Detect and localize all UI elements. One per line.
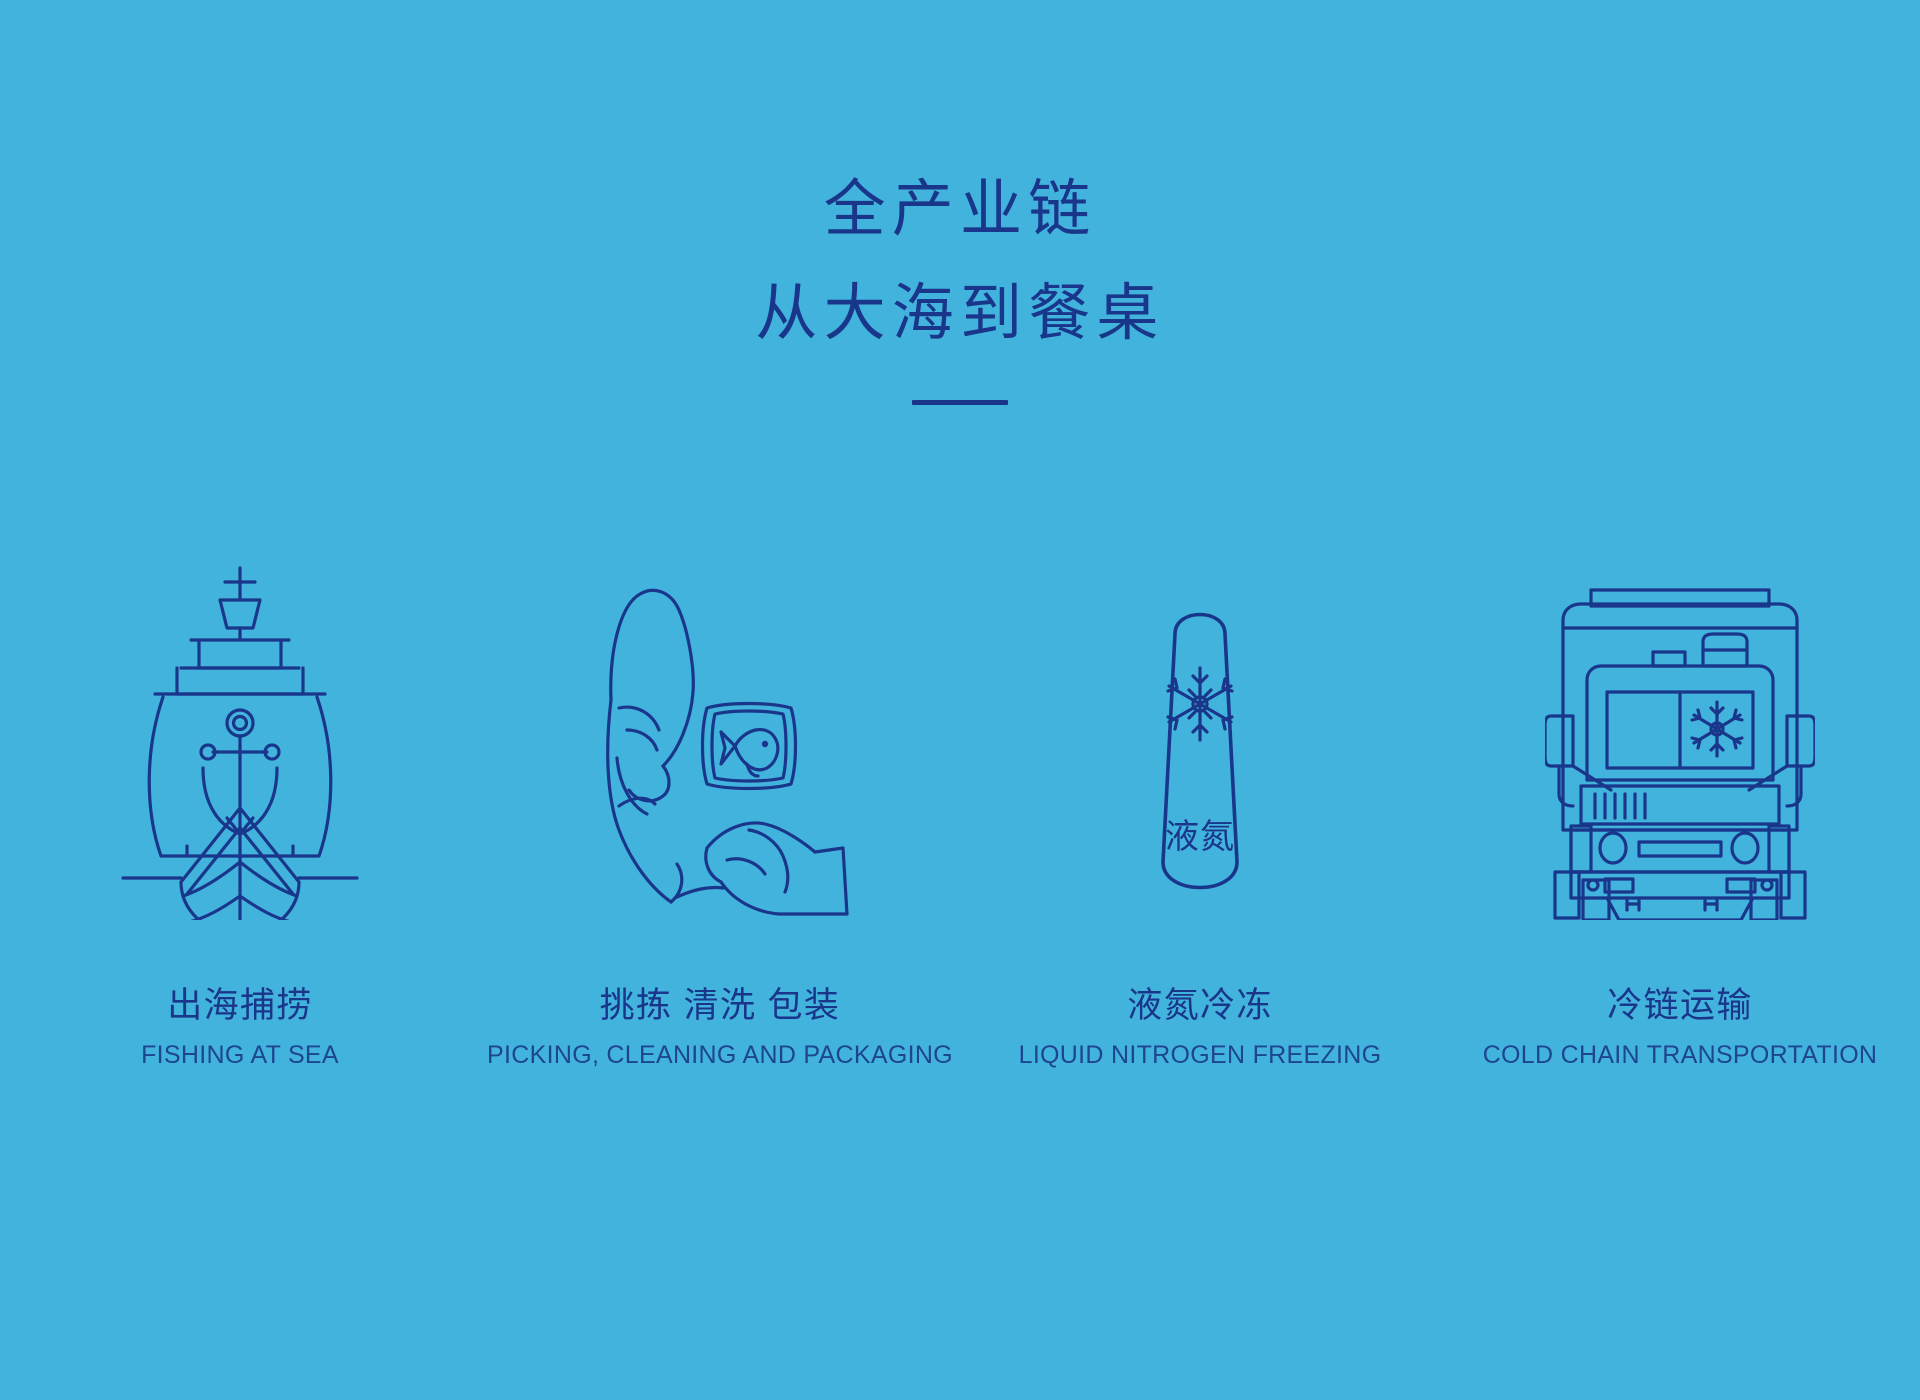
step-label-cn: 出海捕捞 (141, 984, 339, 1028)
page-header: 全产业链 从大海到餐桌 (0, 170, 1920, 405)
snowflake-icon (1692, 702, 1742, 756)
picking-cleaning-packaging-labels: 挑拣 清洗 包装 PICKING, CLEANING AND PACKAGING (487, 984, 953, 1070)
step-label-cn: 挑拣 清洗 包装 (487, 984, 953, 1028)
page-root: 全产业链 从大海到餐桌 (0, 0, 1920, 1400)
tank-label-text: 液氮 (1165, 818, 1235, 856)
hands-with-packaged-fish-icon (575, 580, 865, 920)
snowflake-icon (1168, 668, 1232, 740)
step-label-en: LIQUID NITROGEN FREEZING (1019, 1041, 1382, 1070)
step-label-en: PICKING, CLEANING AND PACKAGING (487, 1041, 953, 1070)
process-step-fishing-at-sea[interactable]: 出海捕捞 FISHING AT SEA (0, 520, 480, 1070)
title-divider (912, 400, 1008, 405)
fishing-boat-with-anchor-icon (115, 560, 365, 920)
process-steps-row: 出海捕捞 FISHING AT SEA (0, 520, 1920, 1070)
fishing-at-sea-labels: 出海捕捞 FISHING AT SEA (141, 984, 339, 1070)
process-step-picking-cleaning-packaging[interactable]: 挑拣 清洗 包装 PICKING, CLEANING AND PACKAGING (480, 520, 960, 1070)
step-label-cn: 液氮冷冻 (1019, 984, 1382, 1028)
process-step-cold-chain-transportation[interactable]: 冷链运输 COLD CHAIN TRANSPORTATION (1440, 520, 1920, 1070)
fishing-boat-icon-container (115, 520, 365, 920)
hands-icon-container (575, 520, 865, 920)
refrigerated-truck-icon-container (1545, 520, 1815, 920)
liquid-nitrogen-freezing-labels: 液氮冷冻 LIQUID NITROGEN FREEZING (1019, 984, 1382, 1070)
liquid-nitrogen-tank-icon-container: 液氮 (1125, 520, 1275, 920)
step-label-en: COLD CHAIN TRANSPORTATION (1483, 1041, 1878, 1070)
process-step-liquid-nitrogen-freezing[interactable]: 液氮 液氮冷冻 LIQUID NITROGEN FREEZING (960, 520, 1440, 1070)
refrigerated-truck-icon (1545, 580, 1815, 920)
step-label-cn: 冷链运输 (1483, 984, 1878, 1028)
liquid-nitrogen-tank-icon: 液氮 (1125, 590, 1275, 920)
cold-chain-transportation-labels: 冷链运输 COLD CHAIN TRANSPORTATION (1483, 984, 1878, 1070)
step-label-en: FISHING AT SEA (141, 1041, 339, 1070)
page-title-line-1: 全产业链 (0, 170, 1920, 252)
grille-slats-icon (1595, 794, 1645, 818)
page-title-line-2: 从大海到餐桌 (0, 274, 1920, 356)
